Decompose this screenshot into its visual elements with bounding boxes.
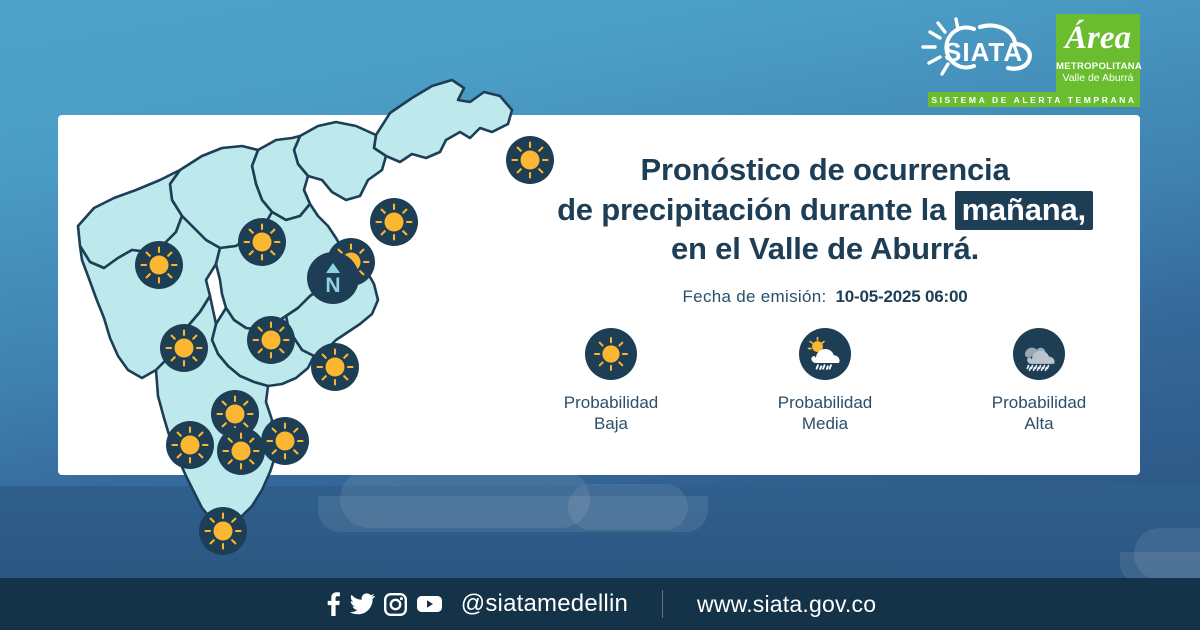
marker-sun-icon	[135, 241, 183, 289]
area-script-text: Área	[1056, 20, 1140, 57]
title-line-2-text: de precipitación durante la	[557, 192, 955, 227]
twitter-icon[interactable]	[350, 593, 375, 615]
marker-sun-icon	[166, 421, 214, 469]
legend-item-alta: Probabilidad Alta	[975, 328, 1103, 435]
issue-date-label: Fecha de emisión:	[683, 287, 827, 307]
map-valle-de-aburra: N	[60, 40, 530, 570]
legend-label-baja: Probabilidad Baja	[564, 392, 659, 435]
issue-date-row: Fecha de emisión: 10-05-2025 06:00	[505, 287, 1145, 307]
marker-sun-icon	[238, 218, 286, 266]
marker-sun-icon	[247, 316, 295, 364]
page-title: Pronóstico de ocurrencia de precipitació…	[505, 150, 1145, 269]
probability-legend: Probabilidad Baja	[505, 328, 1145, 435]
infographic-root: SIATA Área METROPOLITANA Valle de Aburrá…	[0, 0, 1200, 630]
facebook-icon[interactable]	[324, 592, 341, 616]
marker-sun-icon	[217, 427, 265, 475]
legend-label-line2: Media	[778, 413, 873, 434]
legend-label-media: Probabilidad Media	[778, 392, 873, 435]
instagram-icon[interactable]	[384, 593, 407, 616]
sun-icon	[585, 328, 637, 380]
marker-sun-icon	[199, 507, 247, 555]
area-line1: METROPOLITANA	[1056, 61, 1140, 72]
marker-sun-icon	[311, 343, 359, 391]
siata-wordmark: SIATA	[944, 37, 1023, 68]
legend-label-line1: Probabilidad	[778, 392, 873, 413]
marker-sun-icon	[261, 417, 309, 465]
compass-rose: N	[307, 252, 359, 304]
legend-label-line2: Baja	[564, 413, 659, 434]
siata-logo: SIATA	[918, 14, 1046, 86]
title-line-3: en el Valle de Aburrá.	[505, 229, 1145, 269]
area-metropolitana-logo: Área METROPOLITANA Valle de Aburrá	[1056, 14, 1140, 92]
title-line-1: Pronóstico de ocurrencia	[505, 150, 1145, 190]
footer-divider	[662, 590, 663, 618]
legend-label-alta: Probabilidad Alta	[992, 392, 1087, 435]
marker-sun-icon	[160, 324, 208, 372]
footer-bar: @siatamedellin www.siata.gov.co	[0, 578, 1200, 630]
marker-sun-icon	[370, 198, 418, 246]
social-handle[interactable]: @siatamedellin	[461, 590, 628, 618]
issue-date-value: 10-05-2025 06:00	[836, 287, 968, 307]
sun-cloud-rain-icon	[799, 328, 851, 380]
website-url[interactable]: www.siata.gov.co	[697, 591, 876, 618]
siata-tagline: SISTEMA DE ALERTA TEMPRANA	[928, 92, 1140, 107]
legend-label-line1: Probabilidad	[992, 392, 1087, 413]
title-line-2: de precipitación durante la mañana,	[505, 190, 1145, 230]
area-line2: Valle de Aburrá	[1056, 72, 1140, 84]
logo-group: SIATA Área METROPOLITANA Valle de Aburrá	[918, 14, 1140, 92]
title-highlight-periodo: mañana,	[955, 191, 1093, 230]
legend-label-line1: Probabilidad	[564, 392, 659, 413]
cloud-heavy-rain-icon	[1013, 328, 1065, 380]
legend-item-media: Probabilidad Media	[761, 328, 889, 435]
social-links	[324, 592, 443, 616]
legend-label-line2: Alta	[992, 413, 1087, 434]
compass-label: N	[325, 274, 340, 297]
legend-item-baja: Probabilidad Baja	[547, 328, 675, 435]
forecast-panel: Pronóstico de ocurrencia de precipitació…	[505, 150, 1145, 307]
youtube-icon[interactable]	[416, 594, 443, 614]
